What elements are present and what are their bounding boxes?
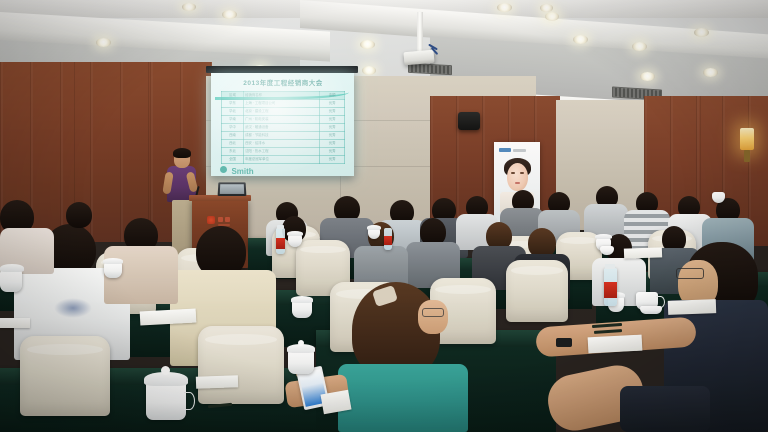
slide-table-cell: 成都 · 节能科技 bbox=[244, 132, 320, 140]
paper-sheet bbox=[668, 299, 716, 315]
water-bottle-label bbox=[276, 238, 285, 249]
phone-user-torso bbox=[338, 364, 468, 432]
remote-control bbox=[556, 338, 572, 347]
chair-front bbox=[20, 336, 110, 416]
banner-model-mouth bbox=[515, 182, 520, 184]
downlight bbox=[540, 4, 553, 12]
wall-sconce-base bbox=[744, 150, 750, 162]
attendee-head bbox=[66, 202, 92, 228]
wall-speaker-icon bbox=[458, 112, 480, 130]
teacup bbox=[0, 270, 22, 292]
teacup-lid bbox=[291, 296, 313, 303]
downlight bbox=[632, 42, 647, 51]
slide-table-cell: 西北 bbox=[222, 140, 244, 148]
teacup-handle bbox=[184, 392, 195, 410]
slide-table-row: 华北北京 · 建设工程优秀 bbox=[222, 108, 345, 116]
slide-table-row: 西北西安 · 给排水优秀 bbox=[222, 140, 345, 148]
banner-brand-logo-icon bbox=[499, 148, 511, 152]
paper-sheet bbox=[624, 247, 662, 258]
teacup-lid bbox=[367, 225, 381, 230]
slide-table-cell: 优秀 bbox=[320, 148, 345, 156]
slide-table-cell: 优秀 bbox=[320, 140, 345, 148]
laptop-screen bbox=[220, 184, 244, 194]
water-bottle-cap bbox=[605, 264, 615, 269]
water-bottle-label bbox=[604, 282, 617, 298]
slide-table-cell: 优秀 bbox=[320, 124, 345, 132]
downlight bbox=[96, 38, 111, 47]
eyeglasses-icon bbox=[422, 308, 444, 317]
podium-emblem-icon bbox=[207, 216, 215, 224]
slide-table-cell: 优秀 bbox=[320, 100, 345, 108]
slide-table-cell: 广州 · 机电安装 bbox=[244, 116, 320, 124]
teacup-knob bbox=[161, 366, 170, 375]
paper-sheet bbox=[588, 335, 643, 354]
slide-table-cell: 优秀 bbox=[320, 116, 345, 124]
banner-model-eye bbox=[520, 172, 524, 174]
eyeglasses-icon bbox=[676, 268, 704, 279]
slide-table-cell: 华东 bbox=[222, 100, 244, 108]
podium-text-glyph bbox=[218, 217, 223, 222]
water-bottle-cap bbox=[277, 225, 284, 229]
laptop bbox=[218, 182, 247, 196]
slide-table-row: 区域经销商名称金额 bbox=[222, 92, 345, 100]
slide-table-cell: 华南 bbox=[222, 116, 244, 124]
presenter-hair bbox=[173, 148, 191, 158]
downlight bbox=[640, 72, 655, 81]
slide-table-cell: 优秀 bbox=[320, 108, 345, 116]
phone-user-face bbox=[418, 300, 448, 334]
slide-logo: Smith bbox=[220, 161, 290, 172]
teacup-lid bbox=[103, 258, 123, 264]
paper-sheet bbox=[196, 375, 238, 388]
paper-sheet bbox=[140, 309, 197, 326]
downlight bbox=[703, 68, 718, 77]
slide-table-row: 东北沈阳 · 热水工程优秀 bbox=[222, 148, 345, 156]
slide-table-cell: 沈阳 · 热水工程 bbox=[244, 148, 320, 156]
downlight bbox=[573, 35, 588, 44]
slide-table-cell: 西南 bbox=[222, 132, 244, 140]
teacup-knob bbox=[298, 340, 304, 346]
downlight bbox=[360, 40, 375, 49]
downlight bbox=[362, 66, 376, 75]
slide-table: 区域经销商名称金额华东上海 · 工程项目公司优秀华北北京 · 建设工程优秀华南广… bbox=[221, 91, 345, 161]
teacup-lid bbox=[287, 231, 303, 236]
chair-front bbox=[198, 326, 284, 404]
podium-text-glyph bbox=[225, 217, 230, 222]
water-bottle-label bbox=[384, 236, 392, 245]
banner-text-line bbox=[513, 149, 526, 152]
teacup bbox=[104, 262, 122, 278]
polo-back-emblem bbox=[54, 298, 92, 318]
banner-model-eye bbox=[511, 172, 515, 174]
projection-screen: 2013年度工程经销商大会 区域经销商名称金额华东上海 · 工程项目公司优秀华北… bbox=[211, 73, 354, 176]
slide-table-row: 华中武汉 · 暖通设备优秀 bbox=[222, 124, 345, 132]
slide-table-cell: 优秀 bbox=[320, 156, 345, 164]
slide-table-cell: 金额 bbox=[320, 92, 345, 100]
slide-table-cell: 华北 bbox=[222, 108, 244, 116]
slide-table-row: 西南成都 · 节能科技优秀 bbox=[222, 132, 345, 140]
banner-model-face bbox=[507, 163, 528, 191]
slide-table-cell: 武汉 · 暖通设备 bbox=[244, 124, 320, 132]
downlight bbox=[545, 12, 559, 21]
teacup bbox=[288, 350, 314, 374]
projector-mount-pole bbox=[417, 12, 423, 54]
slide-data-table: 区域经销商名称金额华东上海 · 工程项目公司优秀华北北京 · 建设工程优秀华南广… bbox=[221, 91, 345, 164]
projector bbox=[403, 50, 434, 66]
teacup-lid bbox=[0, 264, 24, 272]
chair-front bbox=[506, 260, 568, 322]
downlight bbox=[222, 10, 237, 19]
wall-panel-seam bbox=[148, 62, 149, 242]
screen-case bbox=[206, 66, 358, 73]
downlight bbox=[182, 3, 196, 11]
slide-table-row: 华东上海 · 工程项目公司优秀 bbox=[222, 100, 345, 108]
slide-table-cell: 经销商名称 bbox=[244, 92, 320, 100]
slide-table-row: 华南广州 · 机电安装优秀 bbox=[222, 116, 345, 124]
aosmith-mark-icon bbox=[220, 166, 227, 173]
wall-sconce bbox=[740, 128, 754, 150]
slide-table-cell: 西安 · 给排水 bbox=[244, 140, 320, 148]
slide-table-cell: 北京 · 建设工程 bbox=[244, 108, 320, 116]
slide-table-cell: 上海 · 工程项目公司 bbox=[244, 100, 320, 108]
teapot-saucer bbox=[640, 306, 662, 314]
slide-table-cell: 华中 bbox=[222, 124, 244, 132]
paper-sheet bbox=[0, 318, 30, 328]
slide-logo-text: Smith bbox=[231, 167, 253, 176]
downlight bbox=[694, 28, 709, 37]
slide-table-cell: 区域 bbox=[222, 92, 244, 100]
conference-room-photo: 2013年度工程经销商大会 区域经销商名称金额华东上海 · 工程项目公司优秀华北… bbox=[0, 0, 768, 432]
teacup bbox=[146, 382, 186, 420]
downlight bbox=[497, 3, 512, 12]
slide-table-cell: 优秀 bbox=[320, 132, 345, 140]
front-man-shorts bbox=[620, 386, 710, 432]
slide-table-cell: 东北 bbox=[222, 148, 244, 156]
teacup-lid bbox=[595, 234, 612, 239]
